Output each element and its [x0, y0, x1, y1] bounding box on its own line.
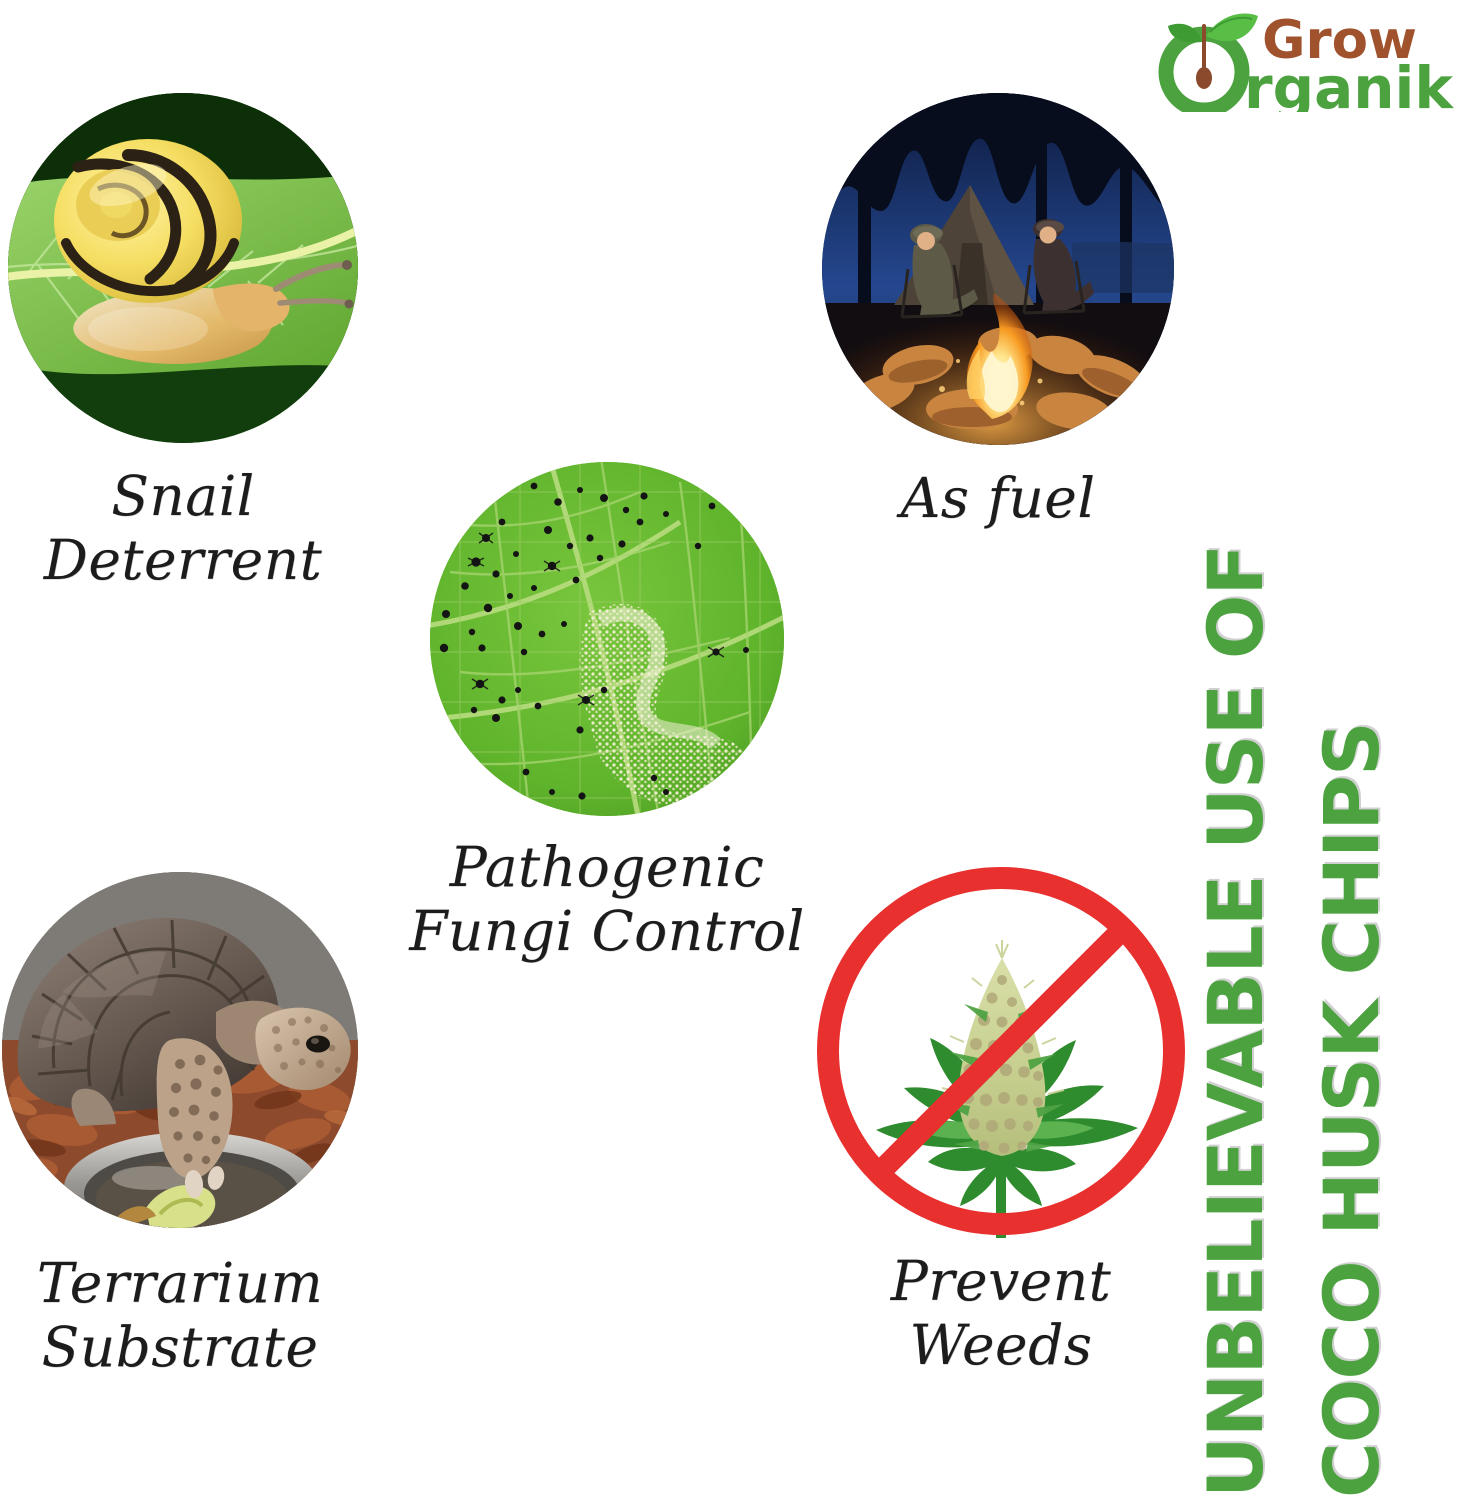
feature-as-fuel: As fuel	[822, 93, 1174, 531]
banner-line-2: COCO HUSK CHIPS	[1314, 722, 1390, 1498]
feature-caption: As fuel	[822, 467, 1174, 531]
grow-organiks-logo-icon: Grow rganiks	[1158, 8, 1454, 112]
diseased-leaf-photo-icon	[430, 462, 784, 816]
feature-caption: Prevent Weeds	[812, 1250, 1190, 1378]
feature-prevent-weeds: Prevent Weeds	[812, 862, 1190, 1378]
no-weeds-icon	[812, 862, 1190, 1240]
campfire-photo-icon	[822, 93, 1174, 445]
feature-caption: Terrarium Substrate	[0, 1252, 380, 1380]
feature-caption: Pathogenic Fungi Control	[392, 836, 822, 964]
snail-photo-icon	[8, 93, 358, 443]
feature-snail-deterrent: Snail Deterrent	[8, 93, 393, 593]
feature-pathogenic-fungi-control: Pathogenic Fungi Control	[430, 462, 822, 964]
brand-logo: Grow rganiks	[1158, 8, 1454, 112]
infographic-canvas: Grow rganiks	[0, 0, 1460, 1500]
feature-caption: Snail Deterrent	[0, 465, 393, 593]
feature-terrarium-substrate: Terrarium Substrate	[2, 872, 380, 1380]
tortoise-photo-icon	[2, 872, 358, 1228]
logo-word-organiks: rganiks	[1244, 54, 1454, 112]
banner-line-1: UNBELIEVABLE USE OF	[1198, 545, 1274, 1498]
vertical-banner: UNBELIEVABLE USE OF COCO HUSK CHIPS	[1218, 610, 1460, 1498]
